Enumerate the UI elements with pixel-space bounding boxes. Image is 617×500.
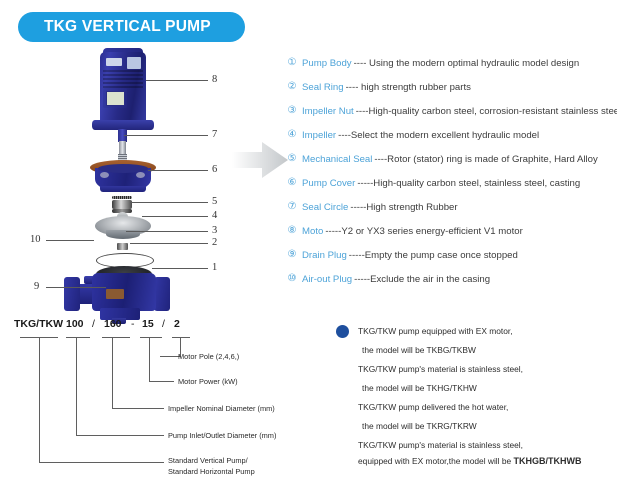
note-text: equipped with EX motor,the model will be (358, 456, 514, 466)
model-label-impeller: Impeller Nominal Diameter (mm) (168, 403, 275, 414)
callout-2: 2 (212, 237, 217, 248)
callout-1: 1 (212, 262, 217, 273)
legend-description: -----Y2 or YX3 series energy-efficient V… (325, 226, 522, 237)
callout-3: 3 (212, 225, 217, 236)
model-seg-power: 15 (142, 318, 154, 330)
callout-9: 9 (34, 281, 39, 292)
flow-arrow-icon (232, 140, 288, 180)
model-sep-3: / (162, 318, 165, 330)
model-seg-pole: 2 (174, 318, 180, 330)
legend-term: Seal Circle (302, 202, 348, 213)
legend-term: Pump Body (302, 58, 352, 69)
legend-term: Mechanical Seal (302, 154, 372, 165)
legend-term: Impeller Nut (302, 106, 354, 117)
legend-row-8: ⑧Moto-----Y2 or YX3 series energy-effici… (286, 226, 617, 250)
legend-description: ----Rotor (stator) ring is made of Graph… (374, 154, 597, 165)
callout-7: 7 (212, 129, 217, 140)
callout-4: 4 (212, 210, 217, 221)
legend-term: Pump Cover (302, 178, 355, 189)
legend-row-5: ⑤Mechanical Seal----Rotor (stator) ring … (286, 154, 617, 178)
motor-nameplate-b (127, 57, 141, 69)
model-code-breakdown: TKG/TKW 100 / 160 - 15 / 2 Standard Vert… (0, 310, 320, 500)
page-title: TKG VERTICAL PUMP (18, 18, 211, 36)
legend-description: ---- Using the modern optimal hydraulic … (354, 58, 580, 69)
note-line: the model will be TKRG/TKRW (362, 417, 617, 436)
legend-term: Air-out Plug (302, 274, 352, 285)
legend-row-1: ①Pump Body---- Using the modern optimal … (286, 58, 617, 82)
pump-inlet-flange (64, 277, 80, 311)
pump-cover-foot (100, 186, 146, 192)
model-sep-1: / (92, 318, 95, 330)
pump-exploded-diagram: 8 7 6 5 4 3 2 1 10 9 (0, 44, 245, 306)
legend-number-icon-8: ⑧ (286, 226, 298, 236)
legend-number-icon-1: ① (286, 58, 298, 68)
legend-term: Seal Ring (302, 82, 344, 93)
legend-description: -----High-quality carbon steel, stainles… (357, 178, 580, 189)
legend-number-icon-2: ② (286, 82, 298, 92)
note-line: TKG/TKW pump delivered the hot water, (358, 398, 617, 417)
legend-row-3: ③Impeller Nut----High-quality carbon ste… (286, 106, 617, 130)
pump-outlet-flange (154, 277, 170, 311)
product-spec-sheet: TKG VERTICAL PUMP (0, 0, 617, 500)
callout-8: 8 (212, 74, 217, 85)
note-model-code: TKHGB/TKHWB (514, 456, 582, 466)
bullet-icon (336, 325, 349, 338)
impeller-nut (117, 243, 128, 250)
legend-number-icon-4: ④ (286, 130, 298, 140)
legend-row-9: ⑨Drain Plug-----Empty the pump case once… (286, 250, 617, 274)
legend-number-icon-7: ⑦ (286, 202, 298, 212)
model-label-inlet: Pump Inlet/Outlet Diameter (mm) (168, 430, 276, 441)
model-seg-inlet: 100 (66, 318, 84, 330)
legend-description: ---- high strength rubber parts (346, 82, 471, 93)
callout-10: 10 (30, 234, 41, 245)
legend-row-4: ④Impeller----Select the modern excellent… (286, 130, 617, 154)
legend-term: Impeller (302, 130, 336, 141)
model-label-standard-2: Standard Horizontal Pump (168, 467, 255, 476)
legend-row-2: ②Seal Ring---- high strength rubber part… (286, 82, 617, 106)
legend-row-7: ⑦Seal Circle-----High strength Rubber (286, 202, 617, 226)
legend-description: -----High strength Rubber (350, 202, 457, 213)
model-label-pole: Motor Pole (2,4,6,) (178, 351, 239, 362)
legend-term: Drain Plug (302, 250, 347, 261)
note-line: the model will be TKBG/TKBW (362, 341, 617, 360)
model-seg-series: TKG/TKW (14, 318, 63, 330)
legend-number-icon-3: ③ (286, 106, 298, 116)
model-variant-notes: TKG/TKW pump equipped with EX motor,the … (336, 322, 617, 468)
mechanical-seal (112, 196, 132, 213)
motor-nameplate-a (106, 58, 122, 66)
legend-number-icon-10: ⑩ (286, 274, 298, 284)
note-line: TKG/TKW pump's material is stainless ste… (358, 436, 617, 455)
legend-number-icon-5: ⑤ (286, 154, 298, 164)
parts-legend: ①Pump Body---- Using the modern optimal … (286, 58, 617, 298)
model-seg-impeller: 160 (104, 318, 122, 330)
legend-description: -----Exclude the air in the casing (354, 274, 490, 285)
note-line: equipped with EX motor,the model will be… (358, 455, 617, 468)
legend-term: Moto (302, 226, 323, 237)
model-label-power: Motor Power (kW) (178, 376, 238, 387)
legend-description: -----Empty the pump case once stopped (349, 250, 518, 261)
model-sep-2: - (131, 318, 135, 330)
legend-number-icon-9: ⑨ (286, 250, 298, 260)
pump-body-label (106, 289, 124, 299)
page-title-banner: TKG VERTICAL PUMP (18, 12, 245, 42)
motor-nameplate-c (106, 91, 125, 106)
callout-6: 6 (212, 164, 217, 175)
note-line: TKG/TKW pump equipped with EX motor, (358, 322, 617, 341)
callout-5: 5 (212, 196, 217, 207)
legend-row-6: ⑥Pump Cover-----High-quality carbon stee… (286, 178, 617, 202)
model-label-standard-1: Standard Vertical Pump/ (168, 456, 248, 465)
legend-number-icon-6: ⑥ (286, 178, 298, 188)
note-line: TKG/TKW pump's material is stainless ste… (358, 360, 617, 379)
legend-description: ----Select the modern excellent hydrauli… (338, 130, 539, 141)
pump-body (92, 273, 156, 311)
legend-row-10: ⑩Air-out Plug-----Exclude the air in the… (286, 274, 617, 298)
note-line: the model will be TKHG/TKHW (362, 379, 617, 398)
legend-description: ----High-quality carbon steel, corrosion… (356, 106, 617, 117)
